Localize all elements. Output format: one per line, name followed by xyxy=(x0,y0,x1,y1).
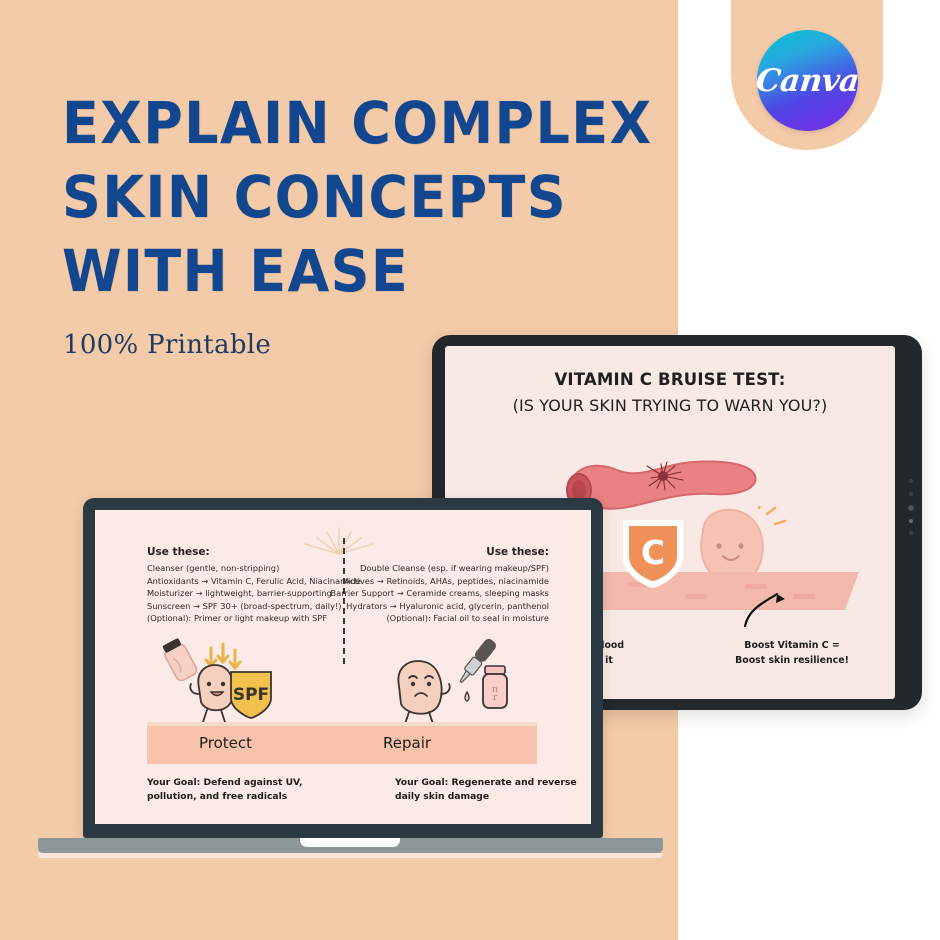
tablet-camera-sensor-icon xyxy=(907,479,915,539)
list-item: Moisturizer → lightweight, barrier-suppo… xyxy=(147,587,361,600)
laptop-device: Use these: Cleanser (gentle, non-strippi… xyxy=(38,498,663,873)
svg-text:r: r xyxy=(493,693,498,703)
canva-badge: Canva xyxy=(731,0,883,150)
tablet-slide-title: VITAMIN C BRUISE TEST: xyxy=(445,370,895,389)
canva-logo-circle: Canva xyxy=(757,30,858,131)
laptop-trackpad-notch xyxy=(300,838,400,847)
list-item: Actives → Retinoids, AHAs, peptides, nia… xyxy=(330,575,549,588)
protect-label: Protect xyxy=(199,734,252,752)
column-divider xyxy=(343,538,345,664)
list-item: Hydrators → Hyaluronic acid, glycerin, p… xyxy=(330,600,549,613)
laptop-lid: Use these: Cleanser (gentle, non-strippi… xyxy=(83,498,603,838)
sun-rays-icon xyxy=(291,518,387,558)
page-title: Explain Complex Skin Concepts With Ease xyxy=(62,86,620,308)
headline-line-2: Skin Concepts xyxy=(62,160,620,234)
protect-illustration: SPF xyxy=(153,636,333,731)
right-column-heading: Use these: xyxy=(486,546,549,558)
tablet-note-bottom-right: Boost Vitamin C =Boost skin resilience! xyxy=(707,638,877,668)
left-column-list: Cleanser (gentle, non-stripping)Antioxid… xyxy=(147,562,361,625)
list-item: Sunscreen → SPF 30+ (broad-spectrum, dai… xyxy=(147,600,361,613)
list-item: Barrier Support → Ceramide creams, sleep… xyxy=(330,587,549,600)
goal-right: Your Goal: Regenerate and reverse daily … xyxy=(395,776,585,804)
canva-wordmark: Canva xyxy=(754,63,861,99)
laptop-base-shadow xyxy=(38,853,663,858)
left-column-heading: Use these: xyxy=(147,546,210,558)
tablet-slide-subtitle: (IS YOUR SKIN TRYING TO WARN YOU?) xyxy=(445,396,895,415)
page-subtitle: 100% Printable xyxy=(63,330,271,360)
repair-illustration: n r xyxy=(363,636,543,731)
headline-line-3: With Ease xyxy=(62,234,620,308)
list-item: (Optional): Facial oil to seal in moistu… xyxy=(330,612,549,625)
spf-badge-text: SPF xyxy=(233,685,269,705)
headline-line-1: Explain Complex xyxy=(62,86,620,160)
list-item: (Optional): Primer or light makeup with … xyxy=(147,612,361,625)
goal-left: Your Goal: Defend against UV, pollution,… xyxy=(147,776,337,804)
list-item: Antioxidants → Vitamin C, Ferulic Acid, … xyxy=(147,575,361,588)
repair-label: Repair xyxy=(383,734,431,752)
laptop-screen: Use these: Cleanser (gentle, non-strippi… xyxy=(95,510,591,824)
right-column-list: Double Cleanse (esp. if wearing makeup/S… xyxy=(330,562,549,625)
list-item: Double Cleanse (esp. if wearing makeup/S… xyxy=(330,562,549,575)
list-item: Cleanser (gentle, non-stripping) xyxy=(147,562,361,575)
